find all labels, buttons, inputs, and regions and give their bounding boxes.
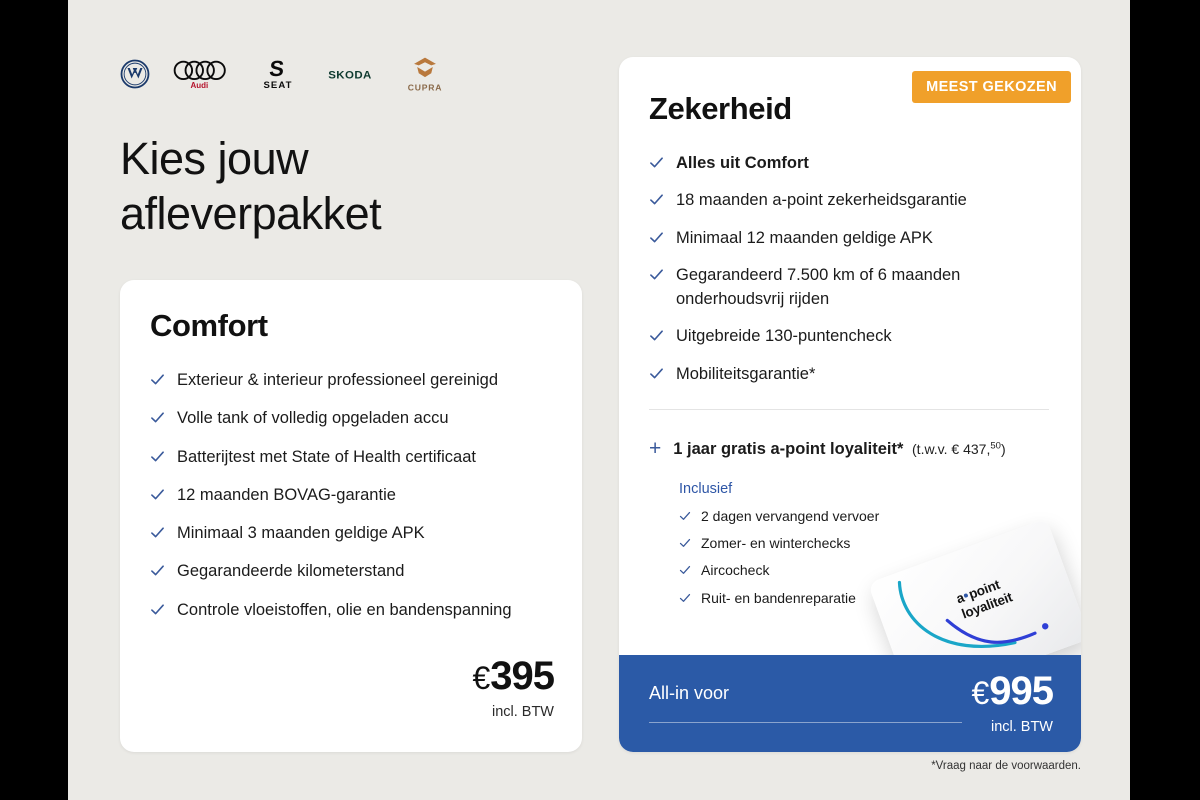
page-title-line1: Kies jouw [120, 133, 308, 184]
list-item: 18 maanden a-point zekerheidsgarantie [649, 188, 1059, 212]
plus-icon: + [649, 438, 661, 459]
loyalty-title: 1 jaar gratis a-point loyaliteit* [673, 440, 903, 458]
check-icon [150, 372, 165, 387]
zekerheid-price-footer: All-in voor €995 incl. BTW [619, 655, 1081, 752]
status-badge: MEEST GEKOZEN [912, 71, 1071, 103]
list-item: Alles uit Comfort [649, 151, 1059, 175]
footnote: *Vraag naar de voorwaarden. [619, 760, 1081, 772]
check-icon [679, 592, 691, 604]
zekerheid-title: Zekerheid [649, 91, 792, 127]
list-item-label: Controle vloeistoffen, olie en bandenspa… [177, 598, 512, 622]
zekerheid-feature-list: Alles uit Comfort18 maanden a-point zeke… [649, 151, 1059, 399]
euro-sign: € [472, 660, 489, 696]
list-item-label: 12 maanden BOVAG-garantie [177, 483, 396, 507]
zekerheid-price-value: 995 [989, 669, 1053, 713]
list-item-label: Minimaal 12 maanden geldige APK [676, 226, 933, 250]
check-icon [679, 537, 691, 549]
loyalty-value-suffix: ) [1001, 441, 1006, 457]
page-title-line2: afleverpakket [120, 188, 381, 239]
seat-logo: S SEAT [256, 57, 300, 96]
footer-price-block: €995 incl. BTW [971, 671, 1053, 735]
svg-text:SKODA: SKODA [328, 69, 372, 81]
loyalty-header: + 1 jaar gratis a-point loyaliteit* (t.w… [649, 437, 1059, 459]
zekerheid-package-card[interactable]: MEEST GEKOZEN Zekerheid Alles uit Comfor… [619, 57, 1081, 752]
loyalty-text-wrap: 1 jaar gratis a-point loyaliteit* (t.w.v… [673, 440, 1005, 459]
comfort-price-block: €395 incl. BTW [472, 656, 554, 720]
check-icon [649, 155, 664, 170]
left-column: Audi S SEAT SKODA [120, 0, 584, 800]
page-title: Kies jouw afleverpakket [120, 132, 540, 242]
list-item: Minimaal 12 maanden geldige APK [649, 226, 1059, 250]
check-icon [150, 525, 165, 540]
list-item: Uitgebreide 130-puntencheck [649, 324, 1059, 348]
list-item-label: Exterieur & interieur professioneel gere… [177, 368, 498, 392]
comfort-package-card[interactable]: Comfort Exterieur & interieur profession… [120, 280, 582, 752]
cupra-logo: CUPRA [400, 54, 450, 99]
comfort-price-note: incl. BTW [472, 704, 554, 720]
list-item-label: Mobiliteitsgarantie* [676, 362, 815, 386]
list-item-label: Minimaal 3 maanden geldige APK [177, 521, 425, 545]
page-canvas: Audi S SEAT SKODA [68, 0, 1130, 800]
list-item-label: Ruit- en bandenreparatie [701, 589, 856, 607]
list-item-label: Gegarandeerde kilometerstand [177, 559, 404, 583]
svg-text:S: S [268, 57, 285, 81]
list-item-label: Alles uit Comfort [676, 151, 809, 175]
divider [649, 409, 1049, 410]
list-item-label: Aircocheck [701, 561, 769, 579]
footer-price-label: All-in voor [649, 683, 729, 704]
brand-logo-row: Audi S SEAT SKODA [120, 55, 450, 97]
list-item: Batterijtest met State of Health certifi… [150, 445, 550, 469]
list-item-label: 18 maanden a-point zekerheidsgarantie [676, 188, 967, 212]
check-icon [150, 410, 165, 425]
list-item-label: Gegarandeerd 7.500 km of 6 maanden onder… [676, 263, 1059, 312]
check-icon [150, 487, 165, 502]
list-item: 12 maanden BOVAG-garantie [150, 483, 550, 507]
list-item: 2 dagen vervangend vervoer [679, 507, 1059, 525]
comfort-price-value: 395 [490, 654, 554, 698]
list-item: Exterieur & interieur professioneel gere… [150, 368, 550, 392]
loyalty-inclusief-label: Inclusief [679, 481, 1059, 497]
list-item: Gegarandeerd 7.500 km of 6 maanden onder… [649, 263, 1059, 312]
list-item: Controle vloeistoffen, olie en bandenspa… [150, 598, 550, 622]
check-icon [649, 230, 664, 245]
comfort-title: Comfort [150, 308, 268, 344]
loyalty-value-prefix: (t.w.v. € 437, [912, 441, 990, 457]
check-icon [649, 192, 664, 207]
loyalty-value: (t.w.v. € 437,50) [912, 441, 1006, 457]
list-item: Gegarandeerde kilometerstand [150, 559, 550, 583]
check-icon [150, 449, 165, 464]
list-item: Mobiliteitsgarantie* [649, 362, 1059, 386]
svg-text:CUPRA: CUPRA [408, 82, 442, 92]
comfort-feature-list: Exterieur & interieur professioneel gere… [150, 368, 550, 636]
comfort-price-amount: €395 [472, 656, 554, 696]
list-item-label: Batterijtest met State of Health certifi… [177, 445, 476, 469]
svg-text:Audi: Audi [190, 80, 208, 89]
check-icon [679, 510, 691, 522]
check-icon [649, 366, 664, 381]
volkswagen-logo [120, 59, 150, 94]
list-item: Volle tank of volledig opgeladen accu [150, 406, 550, 430]
list-item: Minimaal 3 maanden geldige APK [150, 521, 550, 545]
list-item-label: 2 dagen vervangend vervoer [701, 507, 879, 525]
screenshot-stage: Audi S SEAT SKODA [0, 0, 1200, 800]
check-icon [150, 563, 165, 578]
list-item-label: Uitgebreide 130-puntencheck [676, 324, 892, 348]
list-item-label: Volle tank of volledig opgeladen accu [177, 406, 449, 430]
letterbox-bar-left [0, 0, 68, 800]
zekerheid-price-amount: €995 [971, 671, 1053, 711]
skoda-logo: SKODA [322, 63, 378, 90]
svg-text:SEAT: SEAT [263, 79, 292, 90]
euro-sign: € [971, 675, 988, 711]
zekerheid-price-note: incl. BTW [971, 719, 1053, 735]
check-icon [649, 267, 664, 282]
check-icon [679, 564, 691, 576]
loyalty-value-cents: 50 [990, 440, 1001, 451]
footer-rule [649, 722, 962, 723]
check-icon [150, 602, 165, 617]
letterbox-bar-right [1130, 0, 1200, 800]
audi-logo: Audi [172, 58, 234, 95]
check-icon [649, 328, 664, 343]
list-item-label: Zomer- en winterchecks [701, 534, 850, 552]
